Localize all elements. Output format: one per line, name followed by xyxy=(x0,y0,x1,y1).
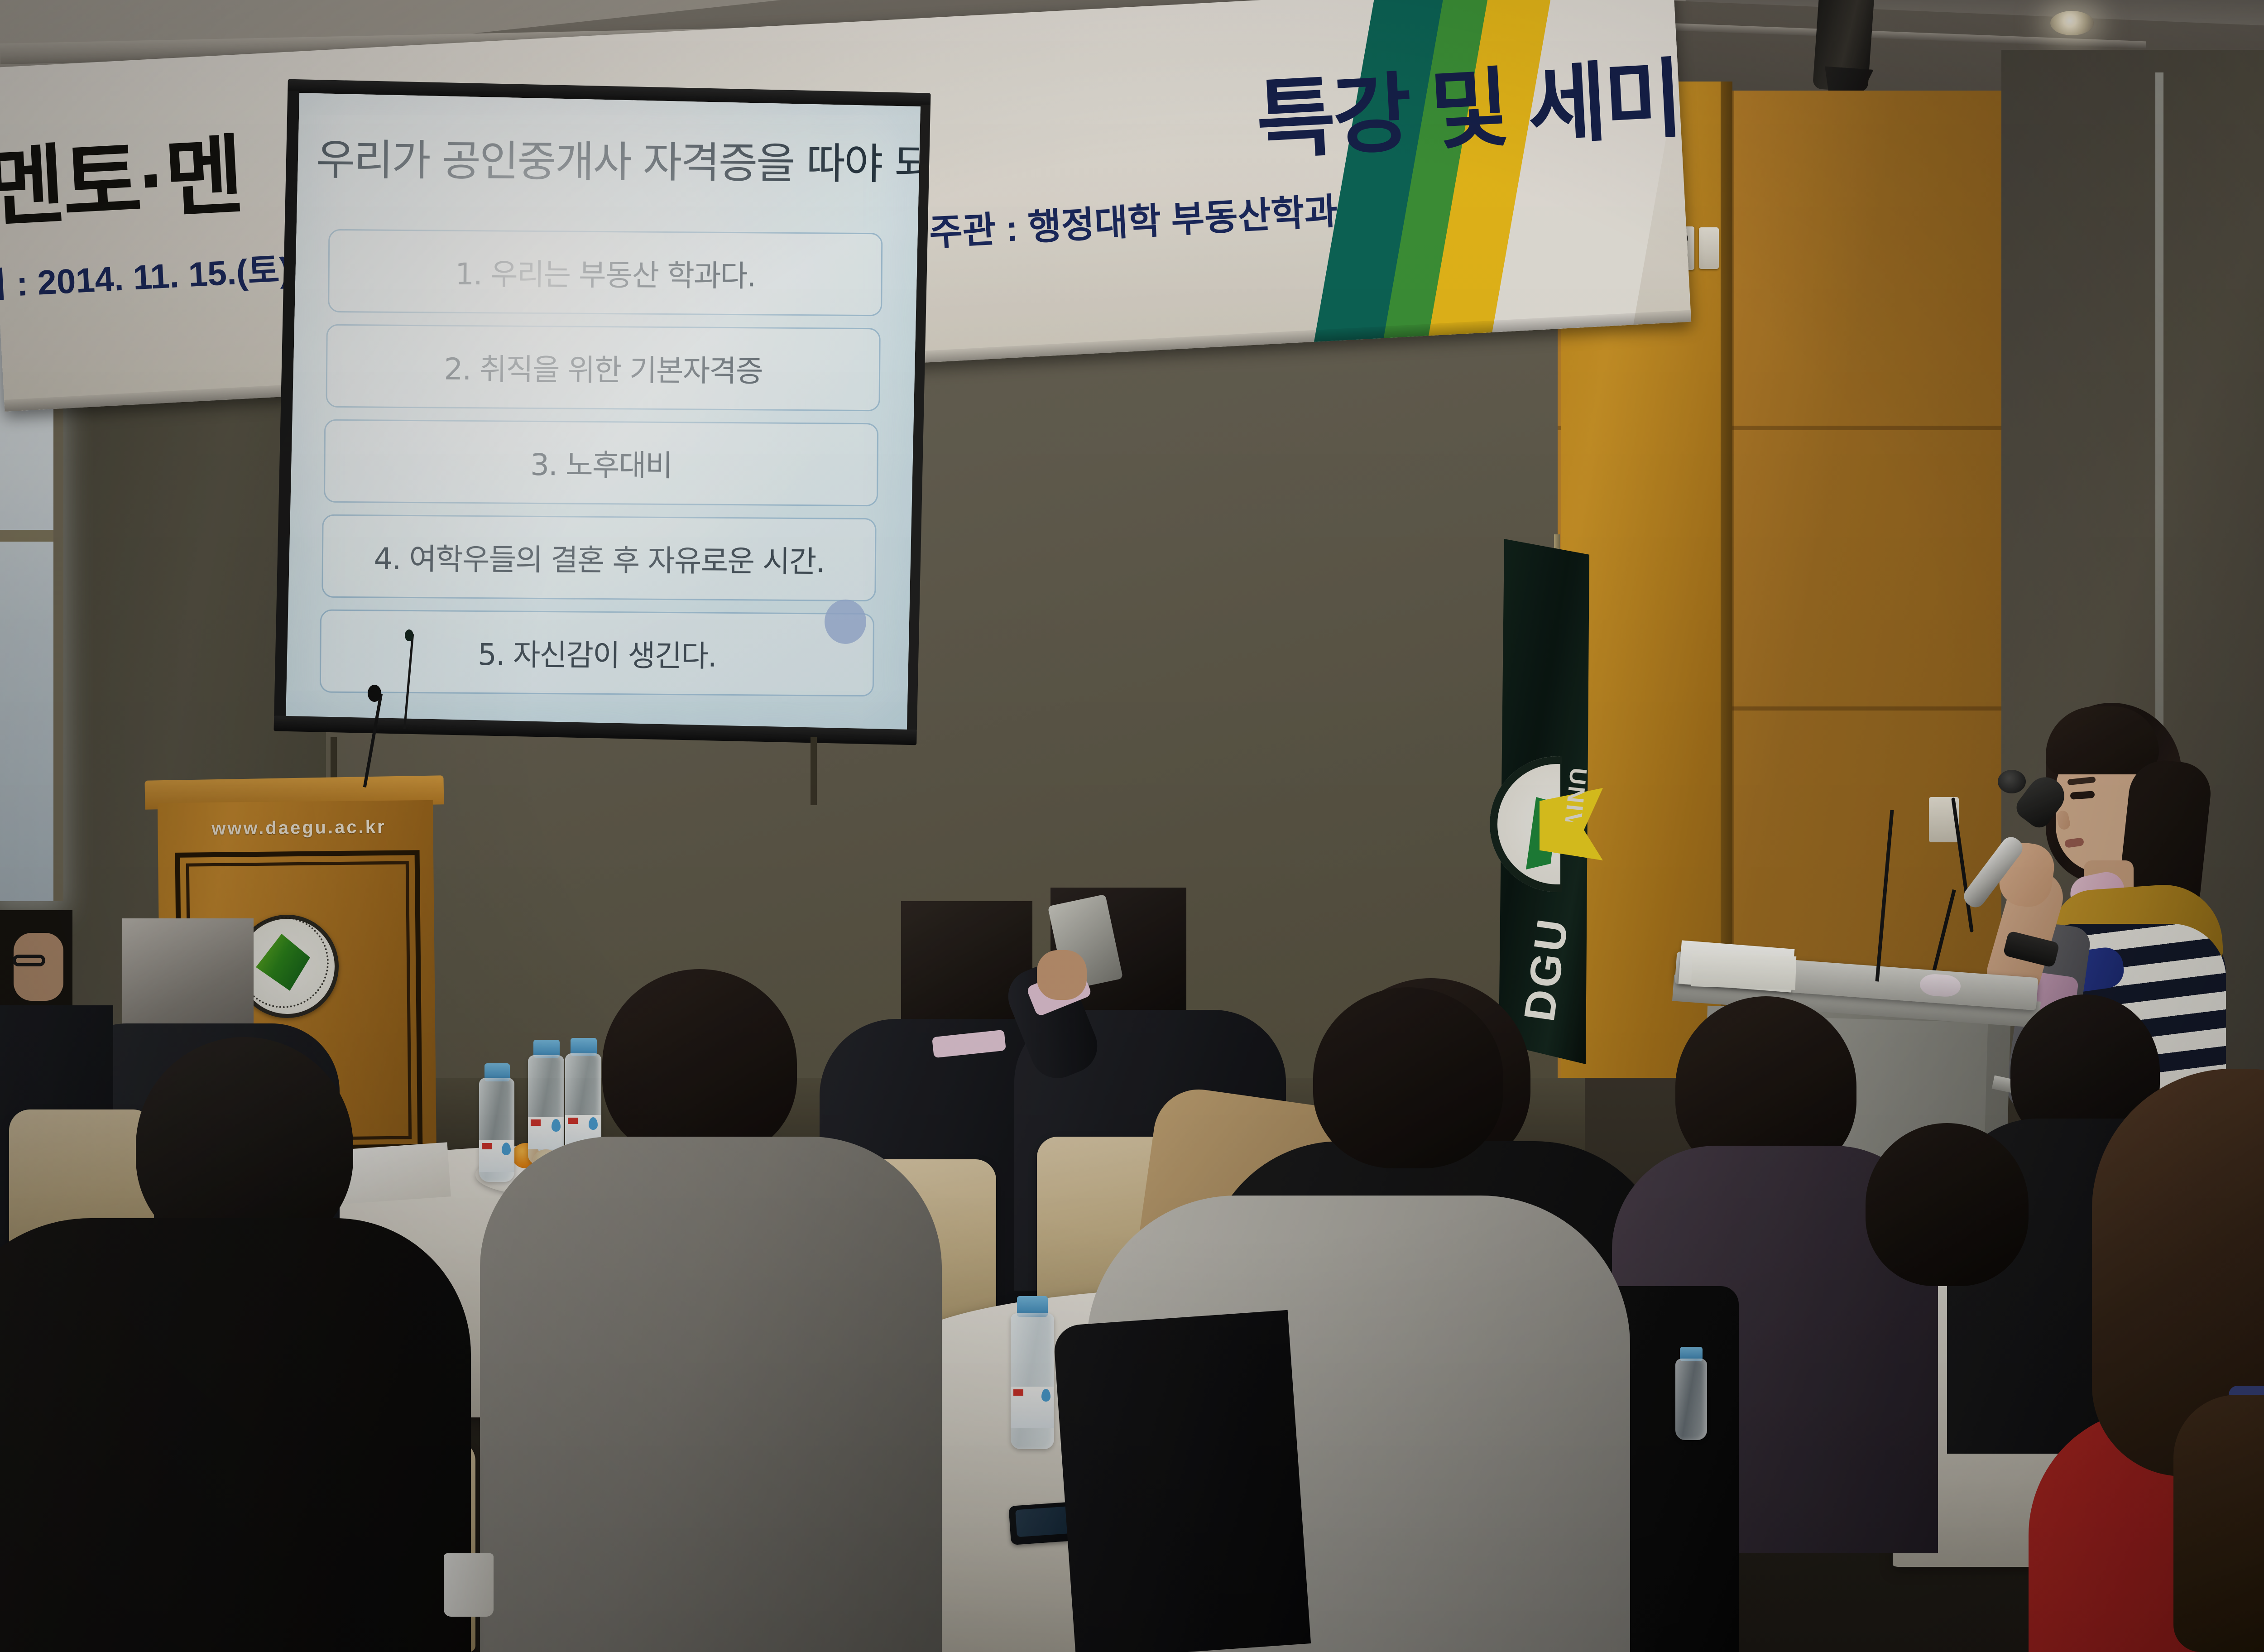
projected-slide: 우리가 공인중개사 자격증을 따야 되는 이유 1. 우리는 부동산 학과다. … xyxy=(286,93,921,730)
banner-host-org: 주관 : 행정대학 부동산학과 xyxy=(928,182,1339,256)
water-bottle xyxy=(1675,1359,1707,1440)
eyeglasses xyxy=(13,955,45,966)
audience-hand xyxy=(1037,950,1087,1000)
seminar-photo-scene: 2회 멘토·멘 특강 및 세미나 일시 : 2014. 11. 15.(토)10… xyxy=(0,0,2264,1652)
projection-screen-assembly: 우리가 공인중개사 자격증을 따야 되는 이유 1. 우리는 부동산 학과다. … xyxy=(273,79,931,745)
bottle-label xyxy=(1011,1387,1054,1428)
slide-item-box: 2. 취직을 위한 기본자격증 xyxy=(326,324,881,412)
flag-abbreviation: DGU xyxy=(1515,914,1605,1028)
slide-title: 우리가 공인중개사 자격증을 따야 되는 이유 xyxy=(316,125,902,192)
banner-title-left: 2회 멘토·멘 xyxy=(0,128,244,245)
audience-body xyxy=(0,1218,471,1652)
slide-item-label: 4. 여학우들의 결혼 후 자유로운 시간. xyxy=(374,534,825,581)
slide-item-box: 1. 우리는 부동산 학과다. xyxy=(328,229,883,317)
light-switch[interactable] xyxy=(1699,227,1719,269)
slide-item-label: 2. 취직을 위한 기본자격증 xyxy=(444,345,763,391)
audience-ponytail xyxy=(2173,1395,2264,1652)
banner-title-right: 특강 및 세미나 xyxy=(1254,47,1691,169)
screen-cable-clip xyxy=(405,629,413,641)
slide-item-box: 4. 여학우들의 결혼 후 자유로운 시간. xyxy=(321,514,876,602)
audience-face xyxy=(14,933,63,1001)
audience-head xyxy=(901,901,1032,1037)
audience-head xyxy=(602,969,797,1159)
podium-microphone-head xyxy=(368,685,381,702)
audience-head xyxy=(1313,987,1503,1168)
slide-item-label: 5. 자신감이 생긴다. xyxy=(478,630,717,676)
slide-item-label: 3. 노후대비 xyxy=(530,441,672,485)
lectern-papers[interactable] xyxy=(1691,953,1796,990)
slide-item-box: 3. 노후대비 xyxy=(324,419,878,507)
microphone-head xyxy=(1998,770,2026,793)
slide-item-label: 1. 우리는 부동산 학과다. xyxy=(455,250,756,296)
water-bottle xyxy=(1011,1313,1054,1449)
audience-black-jacket xyxy=(1053,1310,1311,1652)
podium-url-label: www.daegu.ac.kr xyxy=(181,816,417,843)
bottle-label xyxy=(479,1140,514,1172)
paper-cup xyxy=(444,1553,494,1617)
audience-head-gray-hair xyxy=(122,918,254,1041)
bottle-label xyxy=(528,1117,564,1149)
ceiling-downlight-icon xyxy=(2050,11,2094,35)
screen-stand-leg xyxy=(811,737,817,805)
slide-item-box: 5. 자신감이 생긴다. xyxy=(320,610,874,697)
window-mullion xyxy=(0,530,54,542)
audience-head xyxy=(1866,1123,2029,1286)
audience-gray-sweater xyxy=(480,1137,942,1652)
